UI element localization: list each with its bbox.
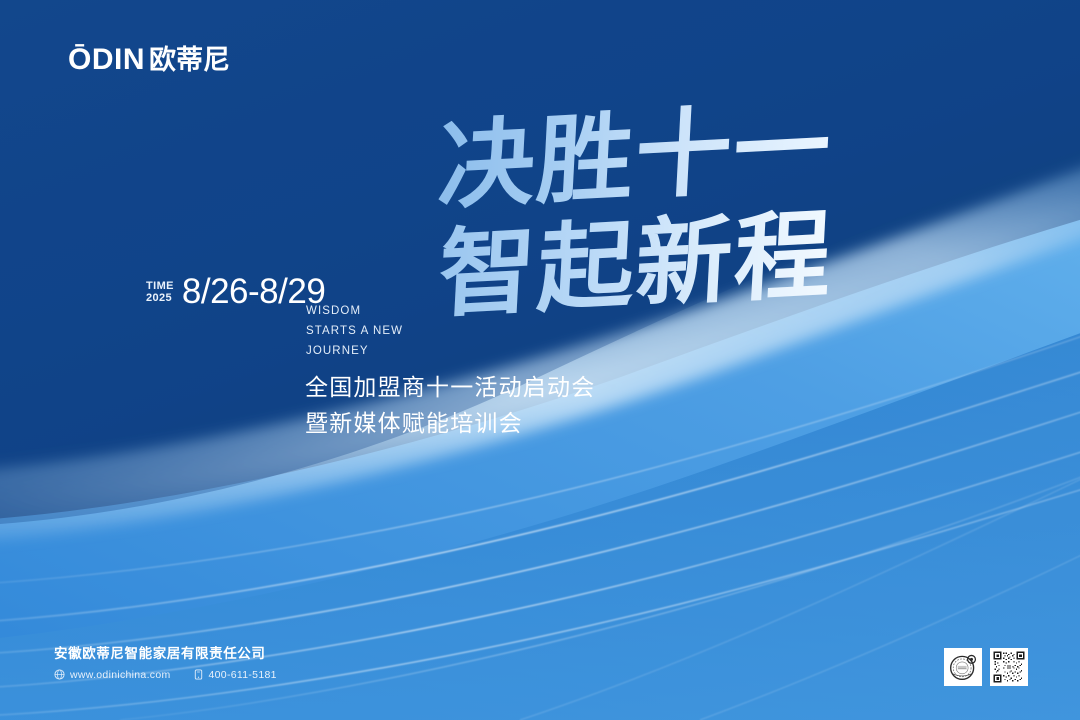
calligraphy-title-graphic: 决胜十一 智起新程 — [440, 112, 910, 342]
logo-latin-text: ŌDIN — [68, 45, 145, 75]
qr-code-badge[interactable] — [990, 648, 1028, 686]
seal-emblem-icon — [946, 650, 980, 684]
contact-row: www.odinichina.com 400-611-5181 — [54, 669, 277, 681]
seal-emblem-badge[interactable] — [944, 648, 982, 686]
qr-code-icon — [992, 650, 1026, 684]
phone-text: 400-611-5181 — [209, 669, 277, 681]
time-label-line2: 2025 — [146, 292, 174, 304]
badge-group — [944, 648, 1028, 686]
website-text: www.odinichina.com — [70, 669, 171, 681]
event-date: TIME 2025 8/26-8/29 — [146, 276, 325, 308]
phone-icon — [193, 669, 204, 680]
title-line-2-text: 智起新程 — [436, 198, 835, 331]
company-name: 安徽欧蒂尼智能家居有限责任公司 — [54, 645, 277, 663]
date-range-value: 8/26-8/29 — [182, 276, 325, 308]
brand-logo[interactable]: ŌDIN 欧蒂尼 — [68, 45, 230, 75]
logo-chinese-text: 欧蒂尼 — [149, 47, 230, 74]
tagline-line-1: WISDOM — [306, 302, 403, 322]
globe-icon — [54, 669, 65, 680]
subtitle-line-2: 暨新媒体赋能培训会 — [305, 405, 595, 441]
tagline-line-2: STARTS A NEW — [306, 322, 403, 342]
footer-block: 安徽欧蒂尼智能家居有限责任公司 www.odinichina.com 400-6… — [54, 645, 277, 681]
event-subtitle: 全国加盟商十一活动启动会 暨新媒体赋能培训会 — [305, 369, 595, 442]
english-tagline: WISDOM STARTS A NEW JOURNEY — [306, 302, 403, 361]
time-label: TIME 2025 — [146, 280, 174, 309]
subtitle-line-1: 全国加盟商十一活动启动会 — [305, 369, 595, 405]
main-title: 决胜十一 智起新程 — [440, 112, 910, 342]
time-label-line1: TIME — [146, 280, 174, 292]
event-poster: ŌDIN 欧蒂尼 决胜十一 智起新程 — [0, 0, 1080, 720]
phone-item[interactable]: 400-611-5181 — [193, 669, 277, 681]
tagline-line-3: JOURNEY — [306, 342, 403, 362]
website-item[interactable]: www.odinichina.com — [54, 669, 171, 681]
